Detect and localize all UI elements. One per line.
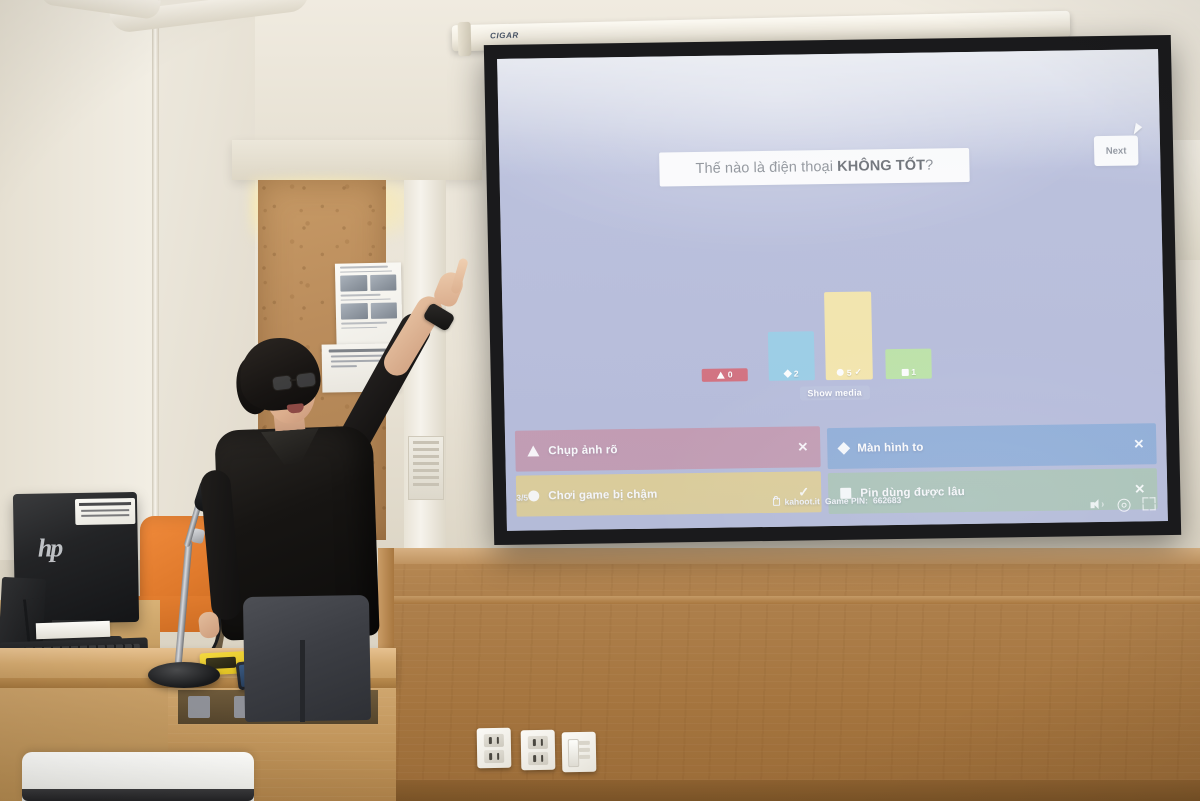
bar-count-0: 0 — [717, 369, 733, 379]
light-switch-plate[interactable] — [562, 732, 597, 773]
bar-0: 0 — [702, 368, 748, 382]
wall-corner-edge — [152, 0, 159, 560]
bar-count-value-3: 1 — [911, 367, 916, 377]
diamond-icon — [837, 442, 850, 455]
bar-2: 5 ✓ — [824, 291, 873, 380]
bar-count-3: 1 — [901, 367, 916, 377]
white-side-table-edge — [22, 789, 254, 801]
monitor-asset-sticker — [75, 498, 135, 525]
presenter-lowered-hand — [198, 611, 221, 639]
answer-distribution-chart: 0 2 — [502, 263, 1165, 385]
hp-logo: hp — [38, 533, 78, 560]
question-counter: 3/5 — [516, 493, 528, 503]
bar-1: 2 — [768, 331, 815, 381]
wood-rail-mid — [378, 596, 1200, 604]
answer-mark-1: ✕ — [1133, 437, 1144, 450]
lock-icon — [772, 498, 779, 506]
kahoot-join-info: kahoot.it Game PIN: 662683 — [772, 495, 901, 507]
bar-count-value-0: 0 — [728, 369, 733, 379]
triangle-icon — [717, 371, 725, 378]
bar-count-value-1: 2 — [794, 369, 799, 379]
projector-screen-frame: Thế nào là điện thoại KHÔNG TỐT? Next 0 — [484, 35, 1181, 545]
bar-column-3: 1 — [885, 349, 932, 380]
wood-baseboard — [378, 780, 1200, 801]
bar-column-1: 2 — [768, 331, 815, 381]
wall-outlet-2[interactable] — [521, 730, 556, 771]
air-vent — [408, 436, 444, 500]
triangle-icon — [527, 445, 539, 456]
fullscreen-icon[interactable] — [1142, 497, 1155, 510]
bar-count-2: 5 ✓ — [837, 367, 862, 378]
roller-brand-label: CIGAR — [490, 31, 519, 41]
kahoot-result-screen: Thế nào là điện thoại KHÔNG TỐT? Next 0 — [497, 49, 1168, 531]
show-media-button[interactable]: Show media — [799, 385, 870, 400]
wall-outlet-1[interactable] — [477, 728, 512, 769]
question-title: Thế nào là điện thoại KHÔNG TỐT? — [659, 148, 970, 187]
paper-stack — [36, 621, 111, 640]
microphone-base — [148, 662, 220, 688]
presenter-leg-split — [300, 640, 305, 722]
next-button-label: Next — [1106, 145, 1127, 156]
projector-screen-surface: Thế nào là điện thoại KHÔNG TỐT? Next 0 — [497, 49, 1168, 531]
player-controls — [1090, 497, 1155, 511]
bar-count-value-2: 5 — [847, 367, 852, 377]
answer-label-1: Màn hình to — [857, 441, 923, 454]
answer-mark-0: ✕ — [797, 440, 808, 453]
next-button[interactable]: Next — [1094, 135, 1139, 166]
answer-option-0[interactable]: Chụp ảnh rõ ✕ — [515, 426, 821, 472]
square-icon — [901, 368, 908, 375]
wall-soffit — [232, 140, 482, 180]
bar-correct-check: ✓ — [854, 367, 861, 378]
wood-rail-top — [378, 548, 1200, 564]
game-pin-value: 662683 — [873, 495, 902, 505]
diamond-icon — [784, 369, 792, 377]
screen-mount-bracket — [458, 22, 472, 56]
kahoot-brand: kahoot.it — [784, 496, 820, 507]
volume-icon[interactable] — [1090, 498, 1103, 511]
question-suffix: ? — [925, 157, 934, 173]
answer-option-1[interactable]: Màn hình to ✕ — [827, 423, 1157, 469]
wall-return-face — [0, 0, 152, 560]
bar-column-0: 0 — [702, 368, 748, 382]
question-prefix: Thế nào là điện thoại — [695, 159, 837, 177]
bar-column-2: 5 ✓ — [824, 291, 873, 380]
question-emphasis: KHÔNG TỐT — [837, 158, 925, 175]
gear-icon[interactable] — [1116, 498, 1129, 511]
kahoot-footer: 3/5 kahoot.it Game PIN: 662683 — [506, 477, 1168, 531]
bar-count-1: 2 — [785, 369, 799, 379]
presenter-legs — [243, 595, 371, 722]
answer-label-0: Chụp ảnh rõ — [548, 444, 618, 457]
circle-icon — [837, 369, 844, 376]
bar-3: 1 — [885, 349, 932, 380]
game-pin-label: Game PIN: — [825, 495, 868, 506]
screenshot-root: CIGAR Thế nào là điện thoại KHÔNG TỐT? N… — [0, 0, 1200, 801]
